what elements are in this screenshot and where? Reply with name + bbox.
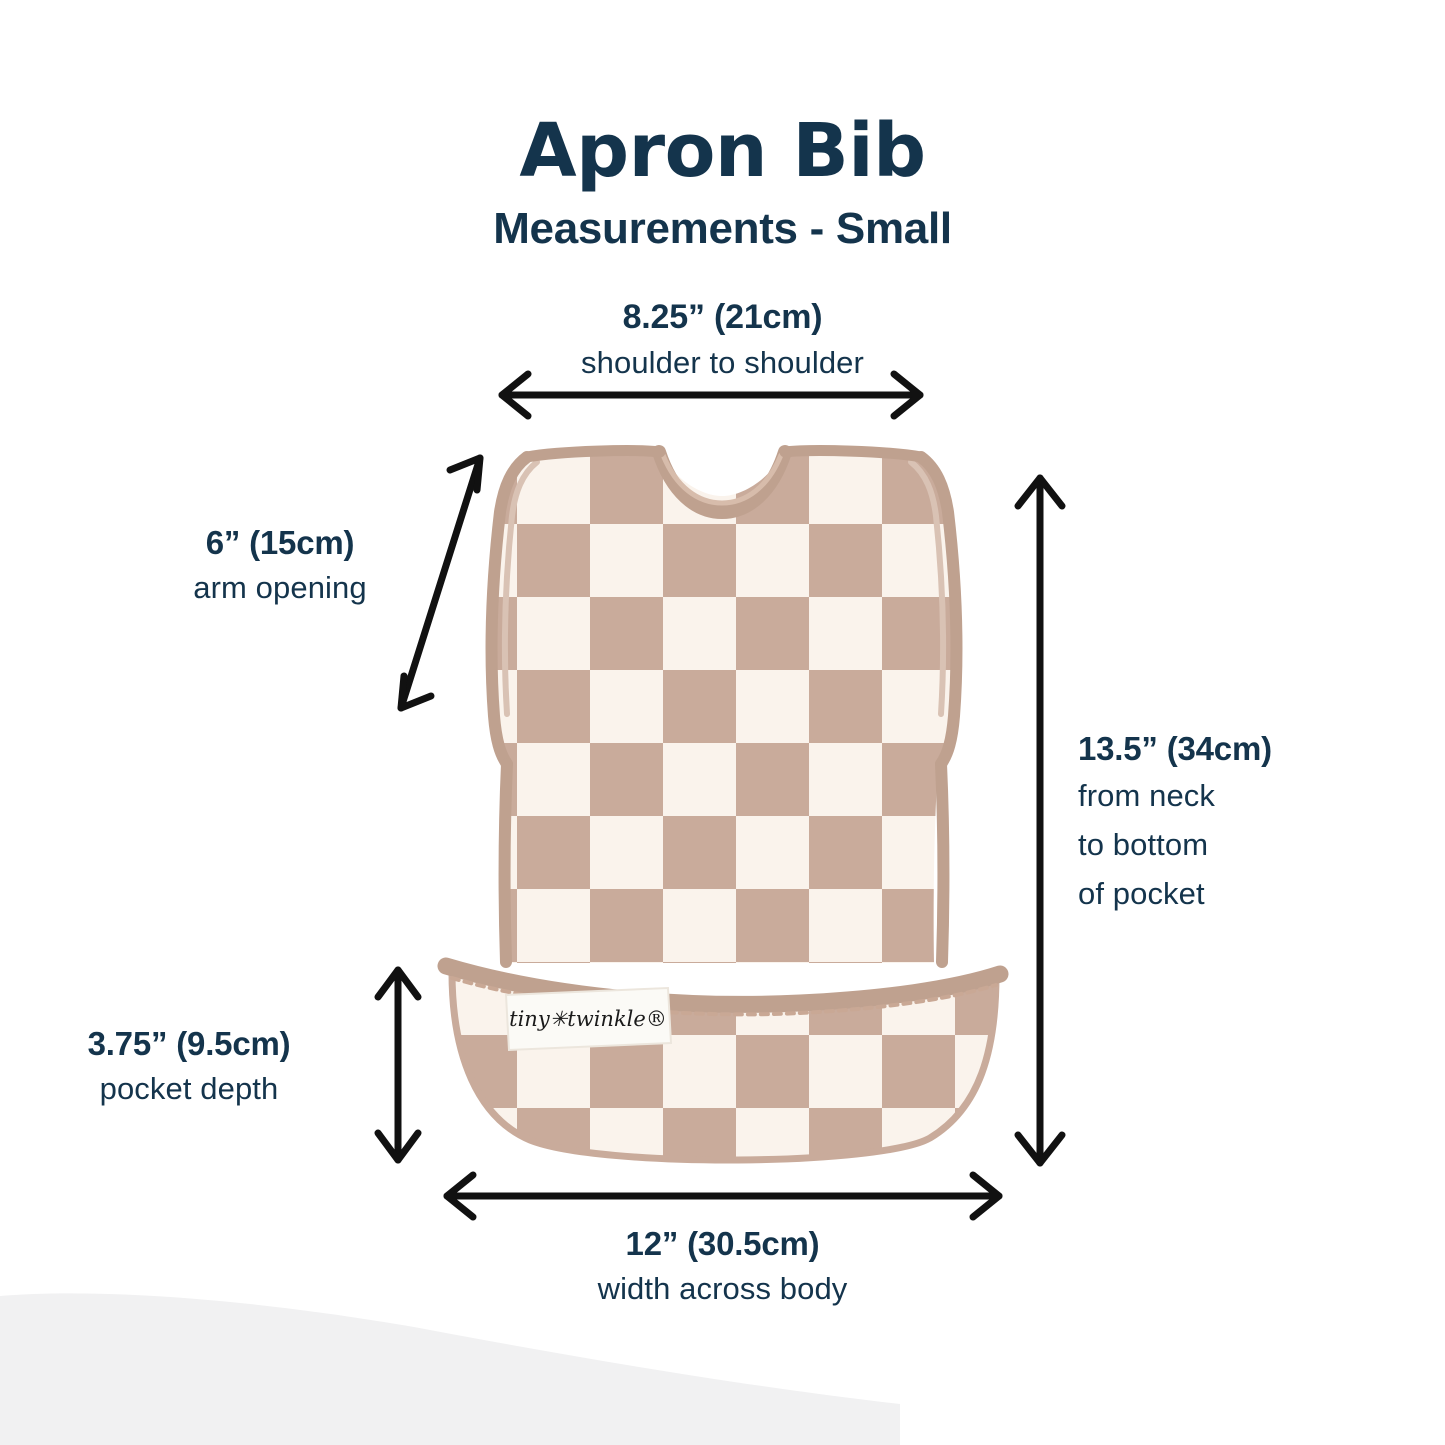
label-neck-to-pocket: 13.5” (34cm) from neck to bottom of pock…	[1078, 730, 1408, 915]
left-shoulder-edge	[527, 451, 660, 457]
page-title: Apron Bib	[0, 108, 1445, 194]
measure-desc-width: width across body	[0, 1269, 1445, 1310]
brand-tag: tiny✳twinkle®	[506, 988, 671, 1050]
measure-desc-neck-to-pocket-line2: to bottom	[1078, 825, 1408, 866]
measure-desc-shoulder: shoulder to shoulder	[0, 343, 1445, 384]
measurement-diagram-page: Apron Bib Measurements - Small	[0, 0, 1445, 1445]
bib-pocket	[440, 940, 1010, 1190]
measure-value-pocket-depth: 3.75” (9.5cm)	[0, 1025, 378, 1063]
measure-value-shoulder: 8.25” (21cm)	[0, 298, 1445, 337]
measure-desc-pocket-depth: pocket depth	[0, 1069, 378, 1110]
measure-desc-arm-opening: arm opening	[0, 568, 560, 609]
pocket-binding-stitching	[452, 978, 996, 1014]
neckline-inner-shade	[663, 455, 781, 503]
label-arm-opening: 6” (15cm) arm opening	[0, 524, 560, 609]
arrow-width-across-body	[447, 1175, 999, 1217]
label-shoulder-to-shoulder: 8.25” (21cm) shoulder to shoulder	[0, 298, 1445, 384]
measure-value-neck-to-pocket: 13.5” (34cm)	[1078, 730, 1408, 768]
measure-desc-neck-to-pocket-line1: from neck	[1078, 776, 1408, 817]
page-subtitle: Measurements - Small	[0, 204, 1445, 254]
pocket-outline	[452, 972, 996, 1160]
right-shoulder-edge	[785, 451, 921, 457]
label-width-across-body: 12” (30.5cm) width across body	[0, 1225, 1445, 1310]
arrow-pocket-depth	[378, 970, 418, 1160]
bib-binding-outline	[492, 457, 957, 962]
brand-tag-text: tiny✳twinkle®	[509, 1007, 667, 1031]
measure-value-width: 12” (30.5cm)	[0, 1225, 1445, 1263]
measure-value-arm-opening: 6” (15cm)	[0, 524, 560, 562]
neckline-binding	[659, 452, 785, 512]
measure-desc-neck-to-pocket-line3: of pocket	[1078, 874, 1408, 915]
armhole-inner-shade	[505, 462, 943, 714]
pocket-top-binding	[446, 966, 1000, 1004]
arrow-neck-to-pocket	[1018, 478, 1062, 1163]
label-pocket-depth: 3.75” (9.5cm) pocket depth	[0, 1025, 378, 1110]
